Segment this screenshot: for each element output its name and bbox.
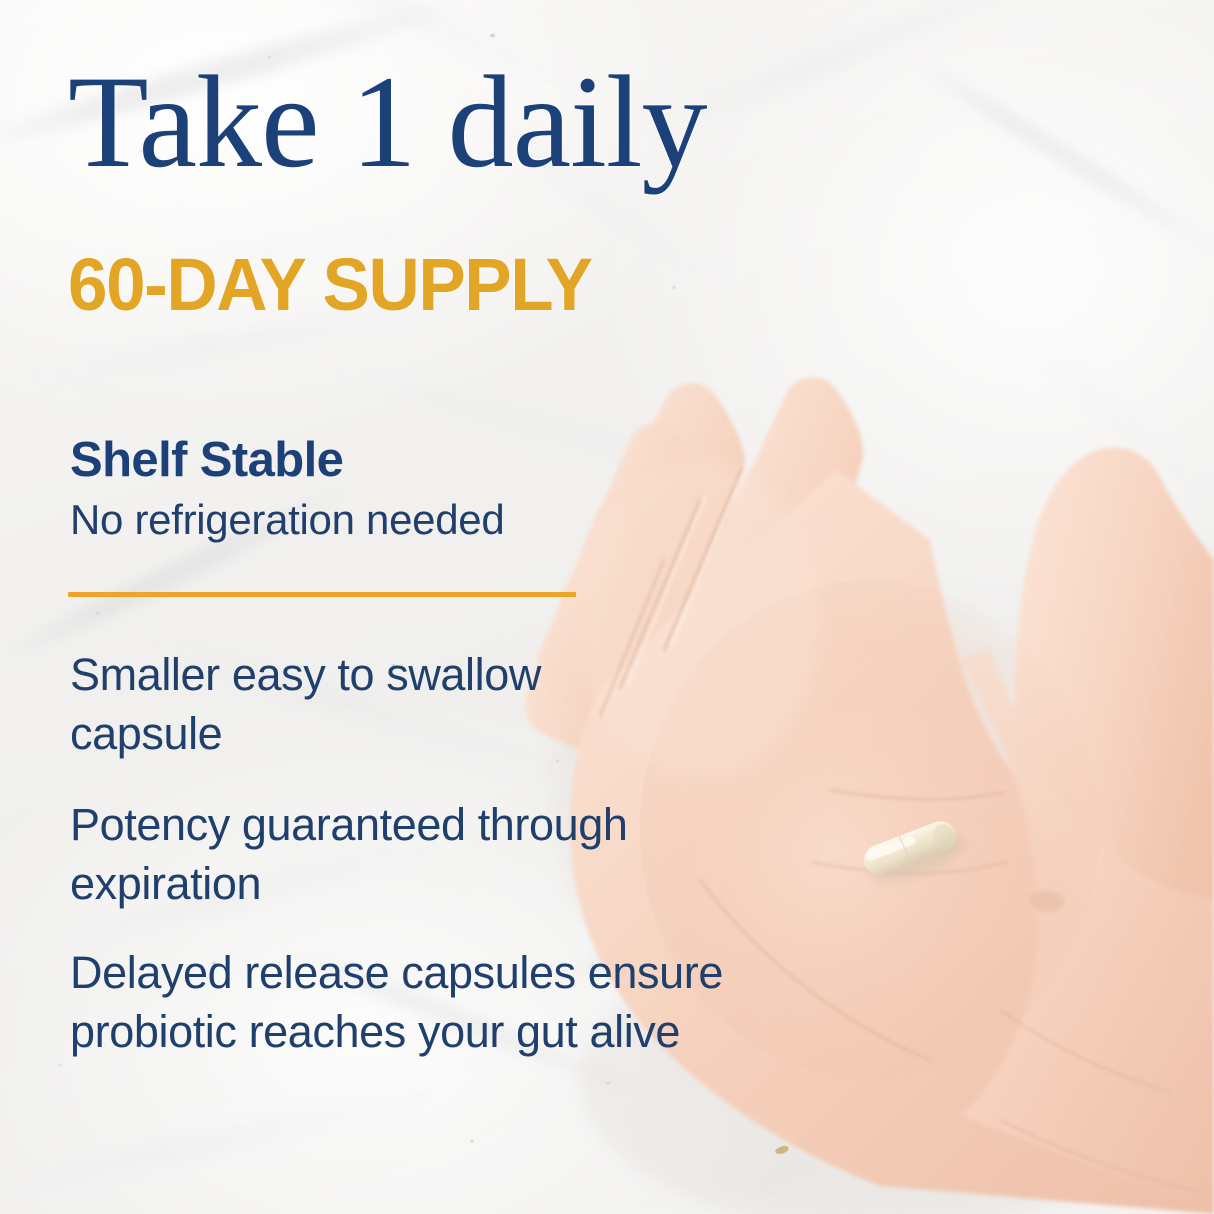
feature-title: Shelf Stable — [70, 432, 343, 488]
feature-subtitle: No refrigeration needed — [70, 496, 504, 544]
subheadline: 60-DAY SUPPLY — [68, 248, 592, 322]
product-feature-graphic: Take 1 daily 60-DAY SUPPLY Shelf Stable … — [0, 0, 1214, 1214]
benefit-item: Smaller easy to swallow capsule — [70, 645, 590, 764]
gold-divider-rule — [68, 592, 576, 597]
headline: Take 1 daily — [68, 56, 707, 188]
benefit-item: Delayed release capsules ensure probioti… — [70, 943, 750, 1062]
benefit-item: Potency guaranteed through expiration — [70, 795, 630, 914]
